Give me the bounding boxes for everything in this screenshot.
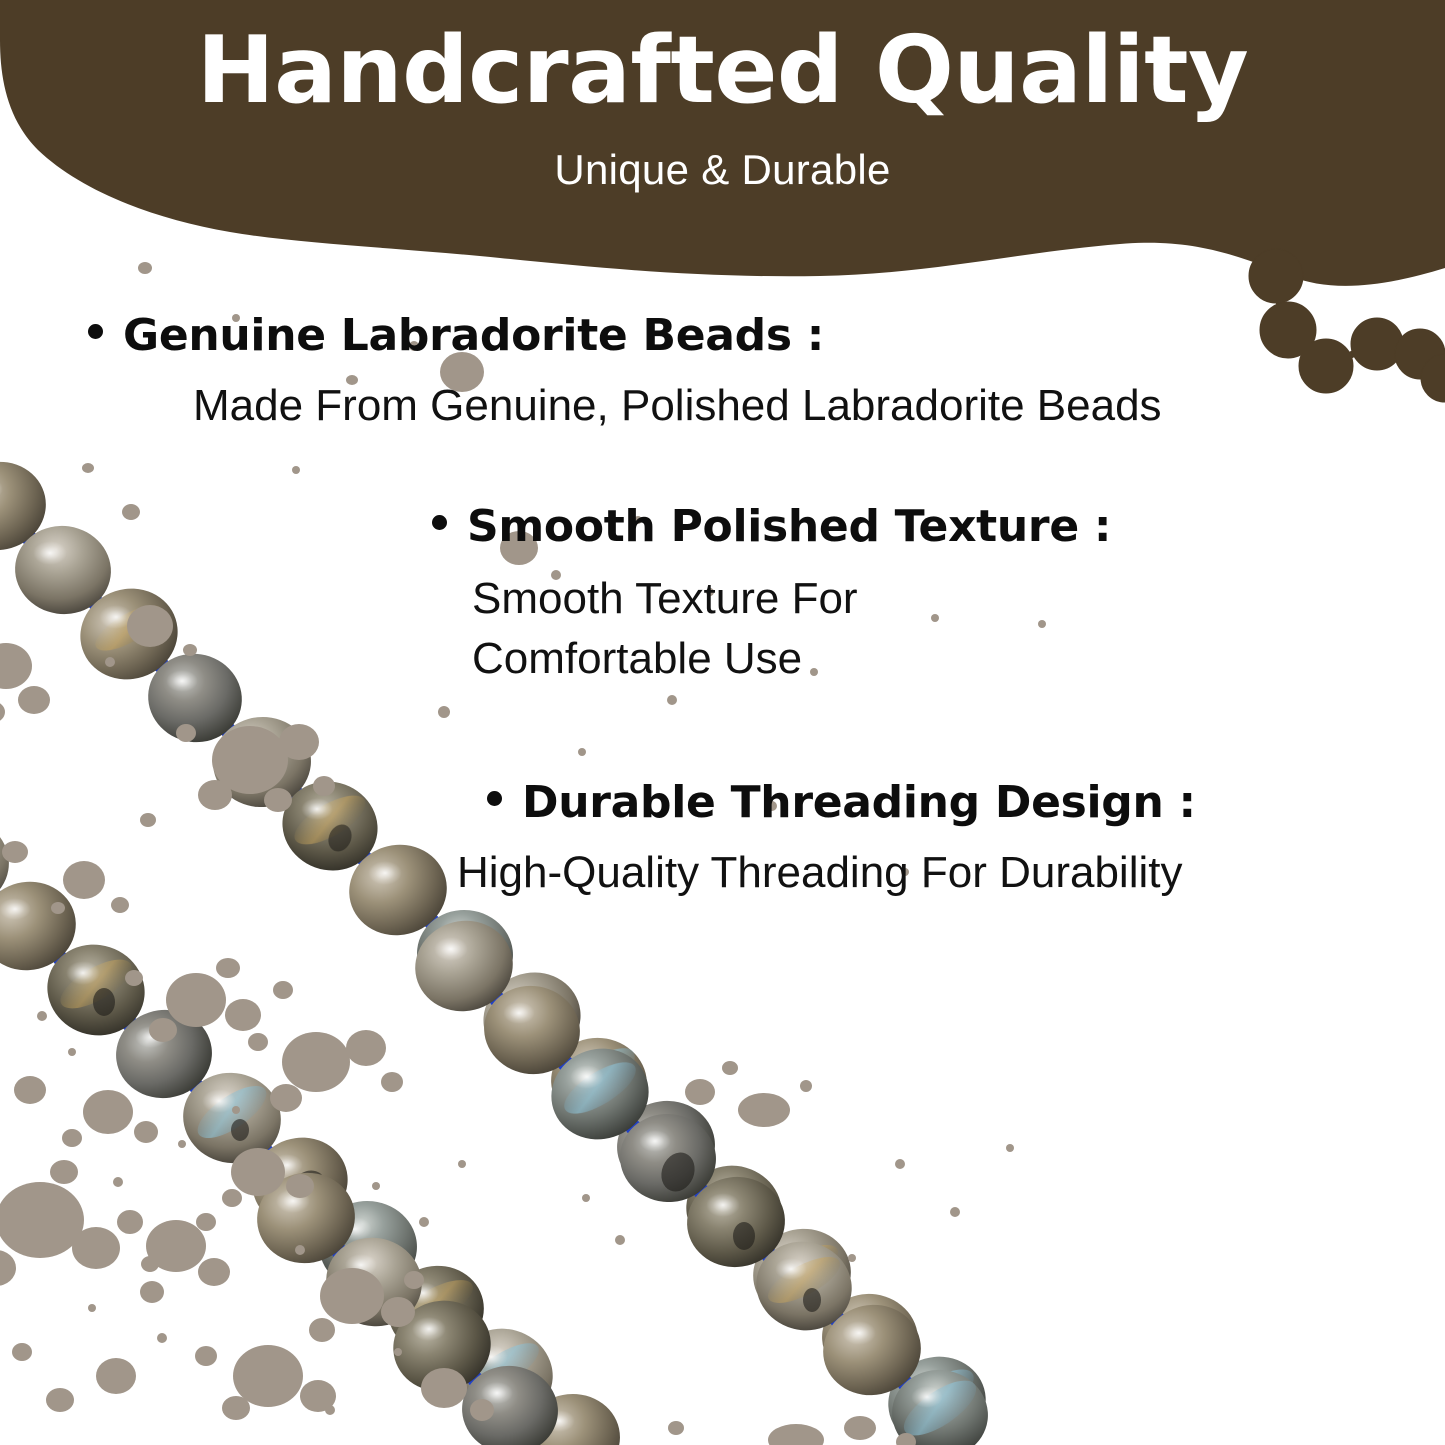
bullet-dot-icon <box>487 791 502 806</box>
feature-2-body: Smooth Texture For Comfortable Use <box>472 569 1111 688</box>
feature-3-body: High-Quality Threading For Durability <box>457 843 1196 902</box>
feature-1-body: Made From Genuine, Polished Labradorite … <box>193 376 1162 435</box>
feature-item-3: Durable Threading Design : High-Quality … <box>487 779 1196 903</box>
feature-1-heading-text: Genuine Labradorite Beads : <box>123 312 824 360</box>
feature-1-heading: Genuine Labradorite Beads : <box>88 312 1162 360</box>
feature-2-heading-text: Smooth Polished Texture : <box>467 503 1111 551</box>
feature-3-heading-text: Durable Threading Design : <box>522 779 1196 827</box>
feature-list: Genuine Labradorite Beads : Made From Ge… <box>0 0 1445 1445</box>
infographic-canvas: Handcrafted Quality Unique & Durable Gen… <box>0 0 1445 1445</box>
feature-2-heading: Smooth Polished Texture : <box>432 503 1111 551</box>
feature-item-2: Smooth Polished Texture : Smooth Texture… <box>432 503 1111 688</box>
bullet-dot-icon <box>88 324 103 339</box>
bullet-dot-icon <box>432 515 447 530</box>
feature-item-1: Genuine Labradorite Beads : Made From Ge… <box>88 312 1162 436</box>
feature-3-heading: Durable Threading Design : <box>487 779 1196 827</box>
